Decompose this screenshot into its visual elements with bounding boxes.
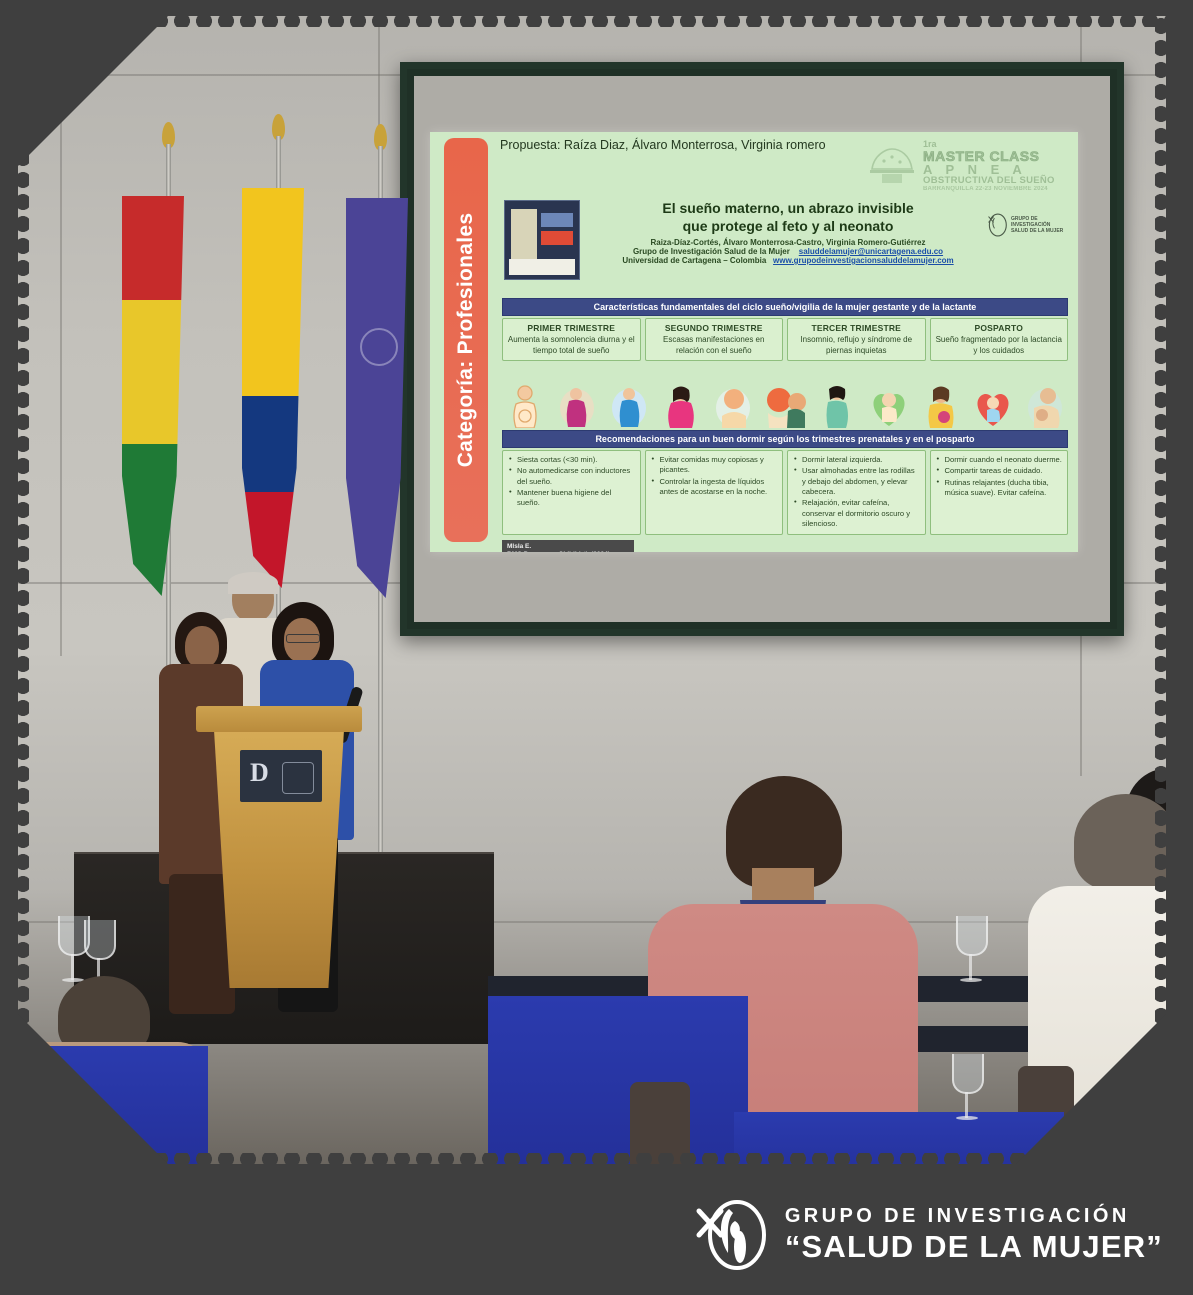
glass-stem	[969, 954, 972, 980]
citation-badge: Mlsla E. BMC Pregnancy Childbirth (2024)	[502, 540, 634, 552]
presentation-slide: Categoría: Profesionales Propuesta: Raíz…	[430, 132, 1078, 552]
watermark-line-2: “SALUD DE LA MUJER”	[785, 1231, 1163, 1262]
group-mark-line-2: SALUD DE LA MUJER	[1011, 228, 1068, 234]
pregnant-woman-icon	[608, 384, 650, 428]
trimester-card: SEGUNDO TRIMESTRE Escasas manifestacione…	[645, 318, 784, 361]
podium-emblem-letter: D	[250, 758, 269, 788]
woman-health-logo-icon	[695, 1195, 767, 1273]
trimester-card: TERCER TRIMESTRE Insomnio, reflujo y sín…	[787, 318, 926, 361]
recommendation-item: Controlar la ingesta de líquidos antes d…	[660, 477, 778, 498]
poster-thumb-red	[541, 231, 573, 245]
mc-line-1: MASTER CLASS	[923, 149, 1066, 163]
slide-authors: Raiza-Díaz-Cortés, Álvaro Monterrosa-Cas…	[592, 238, 984, 247]
watermark-logo: GRUPO DE INVESTIGACIÓN “SALUD DE LA MUJE…	[695, 1195, 1163, 1273]
recommendation-card: Dormir cuando el neonato duerme. Compart…	[930, 450, 1069, 535]
slide-body: Propuesta: Raíza Diaz, Álvaro Monterrosa…	[500, 138, 1070, 546]
section-band-recommendations: Recomendaciones para un buen dormir segú…	[502, 430, 1068, 448]
slide-title-line-2: que protege al feto y al neonato	[592, 218, 984, 236]
acms-icon	[866, 143, 918, 189]
stamp-corner-top-left	[18, 16, 168, 166]
illustration-strip	[502, 382, 1068, 428]
mc-line-2: A P N E A	[923, 163, 1066, 176]
poster-contest-thumbnail	[504, 200, 580, 280]
mc-line-4: BARRANQUILLA 22-23 NOVIEMBRE 2024	[923, 186, 1066, 192]
podium: D	[204, 706, 354, 988]
recommendations-row: Siesta cortas (<30 min). No automedicars…	[502, 450, 1068, 535]
proposal-line: Propuesta: Raíza Diaz, Álvaro Monterrosa…	[500, 138, 830, 154]
glasses-icon	[286, 634, 320, 643]
recommendation-item: Evitar comidas muy copiosas y picantes.	[660, 455, 778, 476]
contact-email[interactable]: saluddelamujer@unicartagena.edu.co	[799, 247, 943, 256]
projection-screen: Categoría: Profesionales Propuesta: Raíz…	[400, 62, 1124, 636]
recommendation-card: Evitar comidas muy copiosas y picantes. …	[645, 450, 784, 535]
recommendation-item: No automedicarse con inductores del sueñ…	[517, 466, 635, 487]
mc-line-3: OBSTRUCTIVA DEL SUEÑO	[923, 176, 1066, 186]
recommendation-list: Dormir lateral izquierda. Usar almohadas…	[793, 455, 920, 529]
trimester-text: Aumenta la somnolencia diurna y el tiemp…	[506, 335, 637, 356]
recommendation-item: Dormir lateral izquierda.	[802, 455, 920, 465]
watermark-line-1: GRUPO DE INVESTIGACIÓN	[785, 1206, 1163, 1226]
recommendation-list: Siesta cortas (<30 min). No automedicars…	[508, 455, 635, 509]
recommendation-item: Rutinas relajantes (ducha tibia, música …	[945, 478, 1063, 499]
citation-line-1: Mlsla E.	[507, 543, 629, 551]
trimester-heading: TERCER TRIMESTRE	[791, 323, 922, 333]
slide-title-line-1: El sueño materno, un abrazo invisible	[592, 200, 984, 218]
recommendation-item: Mantener buena higiene del sueño.	[517, 488, 635, 509]
trimester-text: Sueño fragmentado por la lactancia y los…	[934, 335, 1065, 356]
podium-top	[196, 706, 362, 732]
trimester-heading: SEGUNDO TRIMESTRE	[649, 323, 780, 333]
affiliation-1-text: Grupo de Investigación Salud de la Mujer	[633, 247, 790, 256]
man-hair	[228, 572, 278, 594]
trimester-card: POSPARTO Sueño fragmentado por la lactan…	[930, 318, 1069, 361]
recommendation-item: Siesta cortas (<30 min).	[517, 455, 635, 465]
mother-baby-heart-icon	[972, 384, 1014, 428]
mother-baby-icon	[920, 384, 962, 428]
mother-baby-icon	[764, 384, 806, 428]
mother-baby-heart-icon	[868, 384, 910, 428]
trimester-row: PRIMER TRIMESTRE Aumenta la somnolencia …	[502, 318, 1068, 361]
glass-foot	[960, 978, 982, 982]
recommendation-item: Relajación, evitar cafeína, conservar el…	[802, 498, 920, 529]
category-banner: Categoría: Profesionales	[444, 138, 488, 542]
pregnant-woman-icon	[816, 384, 858, 428]
glass-bowl	[84, 920, 116, 960]
glass-bowl	[952, 1054, 984, 1094]
glass-bowl	[956, 916, 988, 956]
photo-stamp-border: Categoría: Profesionales Propuesta: Raíz…	[18, 16, 1166, 1164]
trimester-text: Escasas manifestaciones en relación con …	[649, 335, 780, 356]
section-band-characteristics: Características fundamentales del ciclo …	[502, 298, 1068, 316]
trimester-heading: PRIMER TRIMESTRE	[506, 323, 637, 333]
projection-screen-surface: Categoría: Profesionales Propuesta: Raíz…	[414, 76, 1110, 622]
slide-affiliation-2: Universidad de Cartagena – Colombia www.…	[592, 256, 984, 265]
mother-embracing-baby-icon	[1024, 384, 1066, 428]
conference-photo: Categoría: Profesionales Propuesta: Raíz…	[18, 16, 1166, 1164]
recommendation-card: Siesta cortas (<30 min). No automedicars…	[502, 450, 641, 535]
trimester-heading: POSPARTO	[934, 323, 1065, 333]
trimester-text: Insomnio, reflujo y síndrome de piernas …	[791, 335, 922, 356]
recommendation-item: Usar almohadas entre las rodillas y deba…	[802, 466, 920, 497]
chair	[630, 1082, 690, 1164]
stamp-corner-bottom-left	[18, 1014, 168, 1164]
recommendation-list: Evitar comidas muy copiosas y picantes. …	[651, 455, 778, 497]
woman-health-icon	[986, 210, 1008, 240]
slide-title-row: El sueño materno, un abrazo invisible qu…	[500, 200, 1070, 296]
poster-thumb-paper	[511, 209, 537, 261]
slide-affiliation-1: Grupo de Investigación Salud de la Mujer…	[592, 247, 984, 256]
group-mark-line-1: GRUPO DE INVESTIGACIÓN	[1011, 216, 1068, 228]
screenshot-frame: Categoría: Profesionales Propuesta: Raíz…	[0, 0, 1193, 1295]
recommendation-item: Compartir tareas de cuidado.	[945, 466, 1063, 476]
master-class-wordmark: 1ra MASTER CLASS A P N E A OBSTRUCTIVA D…	[923, 140, 1066, 192]
research-group-logo: GRUPO DE INVESTIGACIÓN SALUD DE LA MUJER	[986, 208, 1068, 242]
citation-line-2: BMC Pregnancy Childbirth (2024)	[507, 551, 629, 552]
contact-website[interactable]: www.grupodeinvestigacionsaluddelamujer.c…	[773, 256, 954, 265]
audience-hair	[1074, 794, 1166, 890]
pregnant-woman-icon	[504, 384, 546, 428]
stamp-notch-right	[1155, 16, 1166, 1164]
stamp-notch-left	[18, 16, 29, 1164]
pregnant-woman-icon	[660, 384, 702, 428]
research-group-logo-text: GRUPO DE INVESTIGACIÓN SALUD DE LA MUJER	[1011, 216, 1068, 234]
watermark-text: GRUPO DE INVESTIGACIÓN “SALUD DE LA MUJE…	[785, 1206, 1163, 1262]
podium-secondary-emblem-icon	[282, 762, 314, 794]
recommendation-item: Dormir cuando el neonato duerme.	[945, 455, 1063, 465]
poster-thumb-bar	[509, 259, 575, 275]
recommendation-list: Dormir cuando el neonato duerme. Compart…	[936, 455, 1063, 498]
category-banner-label: Categoría: Profesionales	[454, 213, 478, 468]
pregnant-woman-icon	[556, 384, 598, 428]
affiliation-2-text: Universidad de Cartagena – Colombia	[622, 256, 766, 265]
blue-table-cloth	[488, 996, 748, 1164]
mother-baby-icon	[712, 384, 754, 428]
stamp-corner-bottom-right	[1016, 1014, 1166, 1164]
stamp-notch-bottom	[18, 1153, 1166, 1164]
trimester-card: PRIMER TRIMESTRE Aumenta la somnolencia …	[502, 318, 641, 361]
glass-foot	[956, 1116, 978, 1120]
glass-stem	[965, 1092, 968, 1118]
speaker-brown-head	[185, 626, 219, 668]
recommendation-card: Dormir lateral izquierda. Usar almohadas…	[787, 450, 926, 535]
poster-thumb-blue	[541, 213, 573, 227]
podium-emblem-plate: D	[240, 750, 322, 802]
stamp-notch-top	[18, 16, 1166, 27]
slide-title-block: El sueño materno, un abrazo invisible qu…	[592, 200, 984, 265]
master-class-logo: 1ra MASTER CLASS A P N E A OBSTRUCTIVA D…	[866, 138, 1066, 194]
